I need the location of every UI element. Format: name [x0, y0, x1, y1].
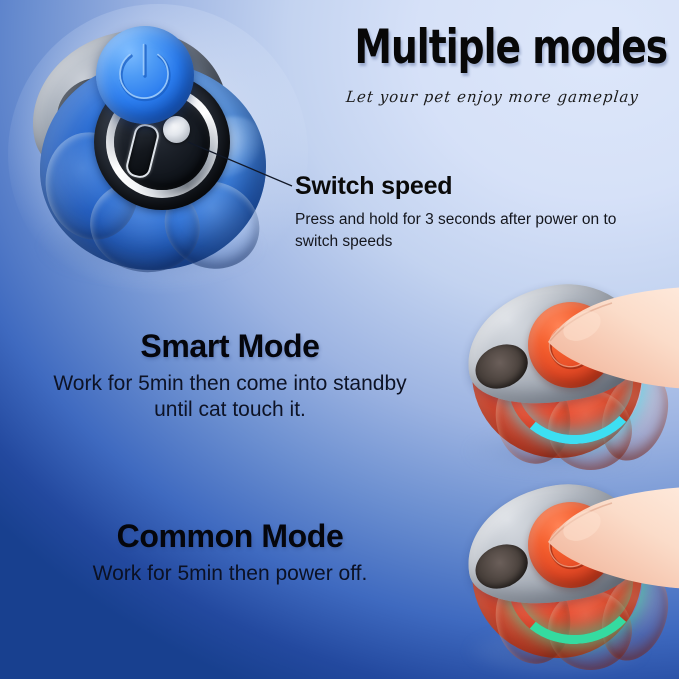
mode-title-smart: Smart Mode — [30, 328, 430, 365]
mode-description-smart: Work for 5min then come into standby unt… — [30, 371, 430, 424]
page-subtitle: Let your pet enjoy more gameplay — [326, 88, 659, 106]
hero-product-blue-ball — [26, 18, 278, 273]
mode-block-smart: Smart Mode Work for 5min then come into … — [30, 328, 430, 424]
power-button-cap[interactable] — [96, 26, 194, 124]
shell-cavity — [468, 536, 534, 596]
mode-block-common: Common Mode Work for 5min then power off… — [30, 518, 430, 587]
mode-title-common: Common Mode — [30, 518, 430, 555]
product-feature-poster: Multiple modes Let your pet enjoy more g… — [0, 0, 679, 679]
callout-body: Press and hold for 3 seconds after power… — [295, 209, 635, 253]
mode-description-common: Work for 5min then power off. — [30, 561, 430, 587]
pointing-finger-icon — [540, 286, 679, 416]
shell-cavity — [468, 336, 534, 396]
pointing-finger-icon — [540, 486, 679, 616]
callout-title: Switch speed — [295, 172, 645, 201]
power-icon — [96, 26, 194, 124]
switch-speed-callout: Switch speed Press and hold for 3 second… — [295, 172, 645, 253]
page-title: Multiple modes — [355, 24, 631, 71]
